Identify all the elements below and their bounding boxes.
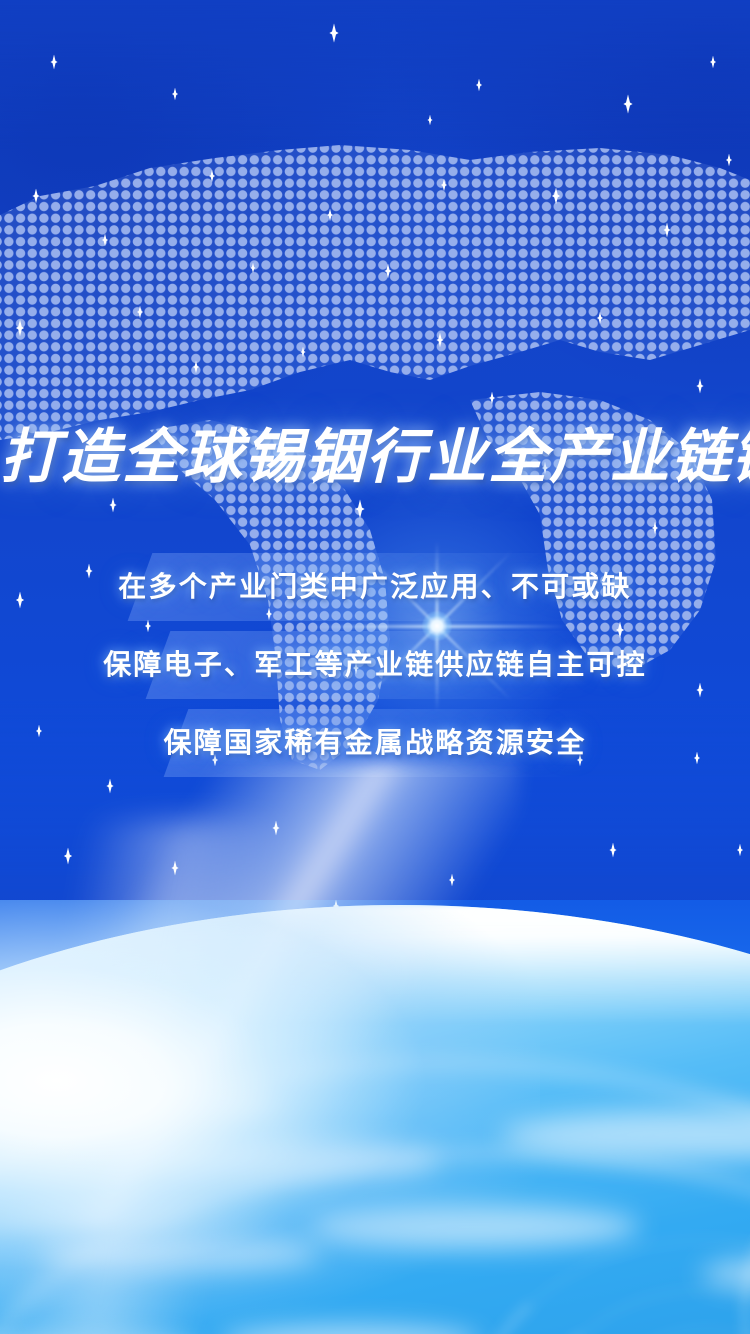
cloud-wisp-3 <box>310 1205 640 1249</box>
cloud-wisp-2 <box>140 1140 440 1180</box>
page-title: 打造全球锡铟行业全产业链链主 <box>0 421 750 493</box>
cloud-wisp-4 <box>40 1235 320 1271</box>
subtitle-line-3: 保障国家稀有金属战略资源安全 <box>0 721 750 761</box>
subtitle-line-2: 保障电子、军工等产业链供应链自主可控 <box>0 643 750 683</box>
earth-atmosphere-rim <box>0 905 750 1025</box>
poster-canvas: 打造全球锡铟行业全产业链链主 在多个产业门类中广泛应用、不可或缺 保障电子、军工… <box>0 0 750 1334</box>
earth-globe <box>0 905 750 1334</box>
subtitle-line-1: 在多个产业门类中广泛应用、不可或缺 <box>0 565 750 605</box>
lens-flare-core <box>422 611 452 641</box>
